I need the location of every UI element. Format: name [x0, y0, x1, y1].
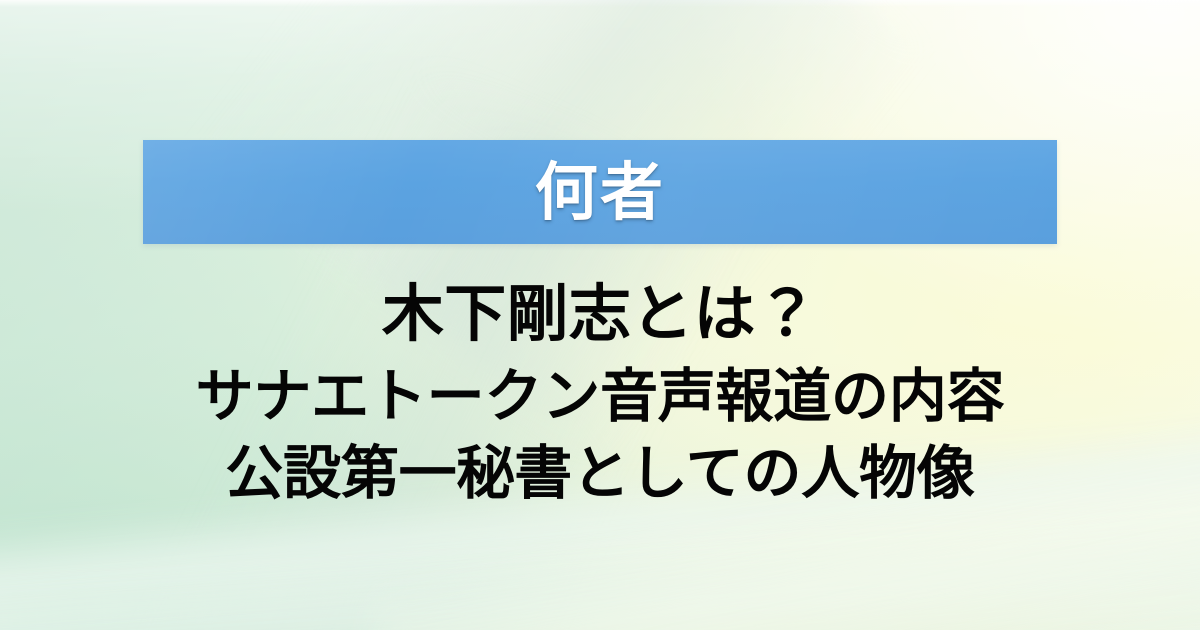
title-line-tertiary: 公設第一秘書としての人物像 [0, 444, 1200, 502]
title-block: 木下剛志とは？ サナエトークン音声報道の内容 公設第一秘書としての人物像 [0, 283, 1200, 502]
title-line-secondary: サナエトークン音声報道の内容 [0, 367, 1200, 425]
background-wave-streak-bottom [0, 502, 1200, 630]
background-top-highlight-line [0, 0, 1200, 7]
category-banner-label: 何者 [535, 161, 665, 224]
thumbnail-canvas: 何者 木下剛志とは？ サナエトークン音声報道の内容 公設第一秘書としての人物像 [0, 0, 1200, 630]
title-line-primary: 木下剛志とは？ [0, 283, 1200, 345]
category-banner: 何者 [143, 140, 1057, 244]
